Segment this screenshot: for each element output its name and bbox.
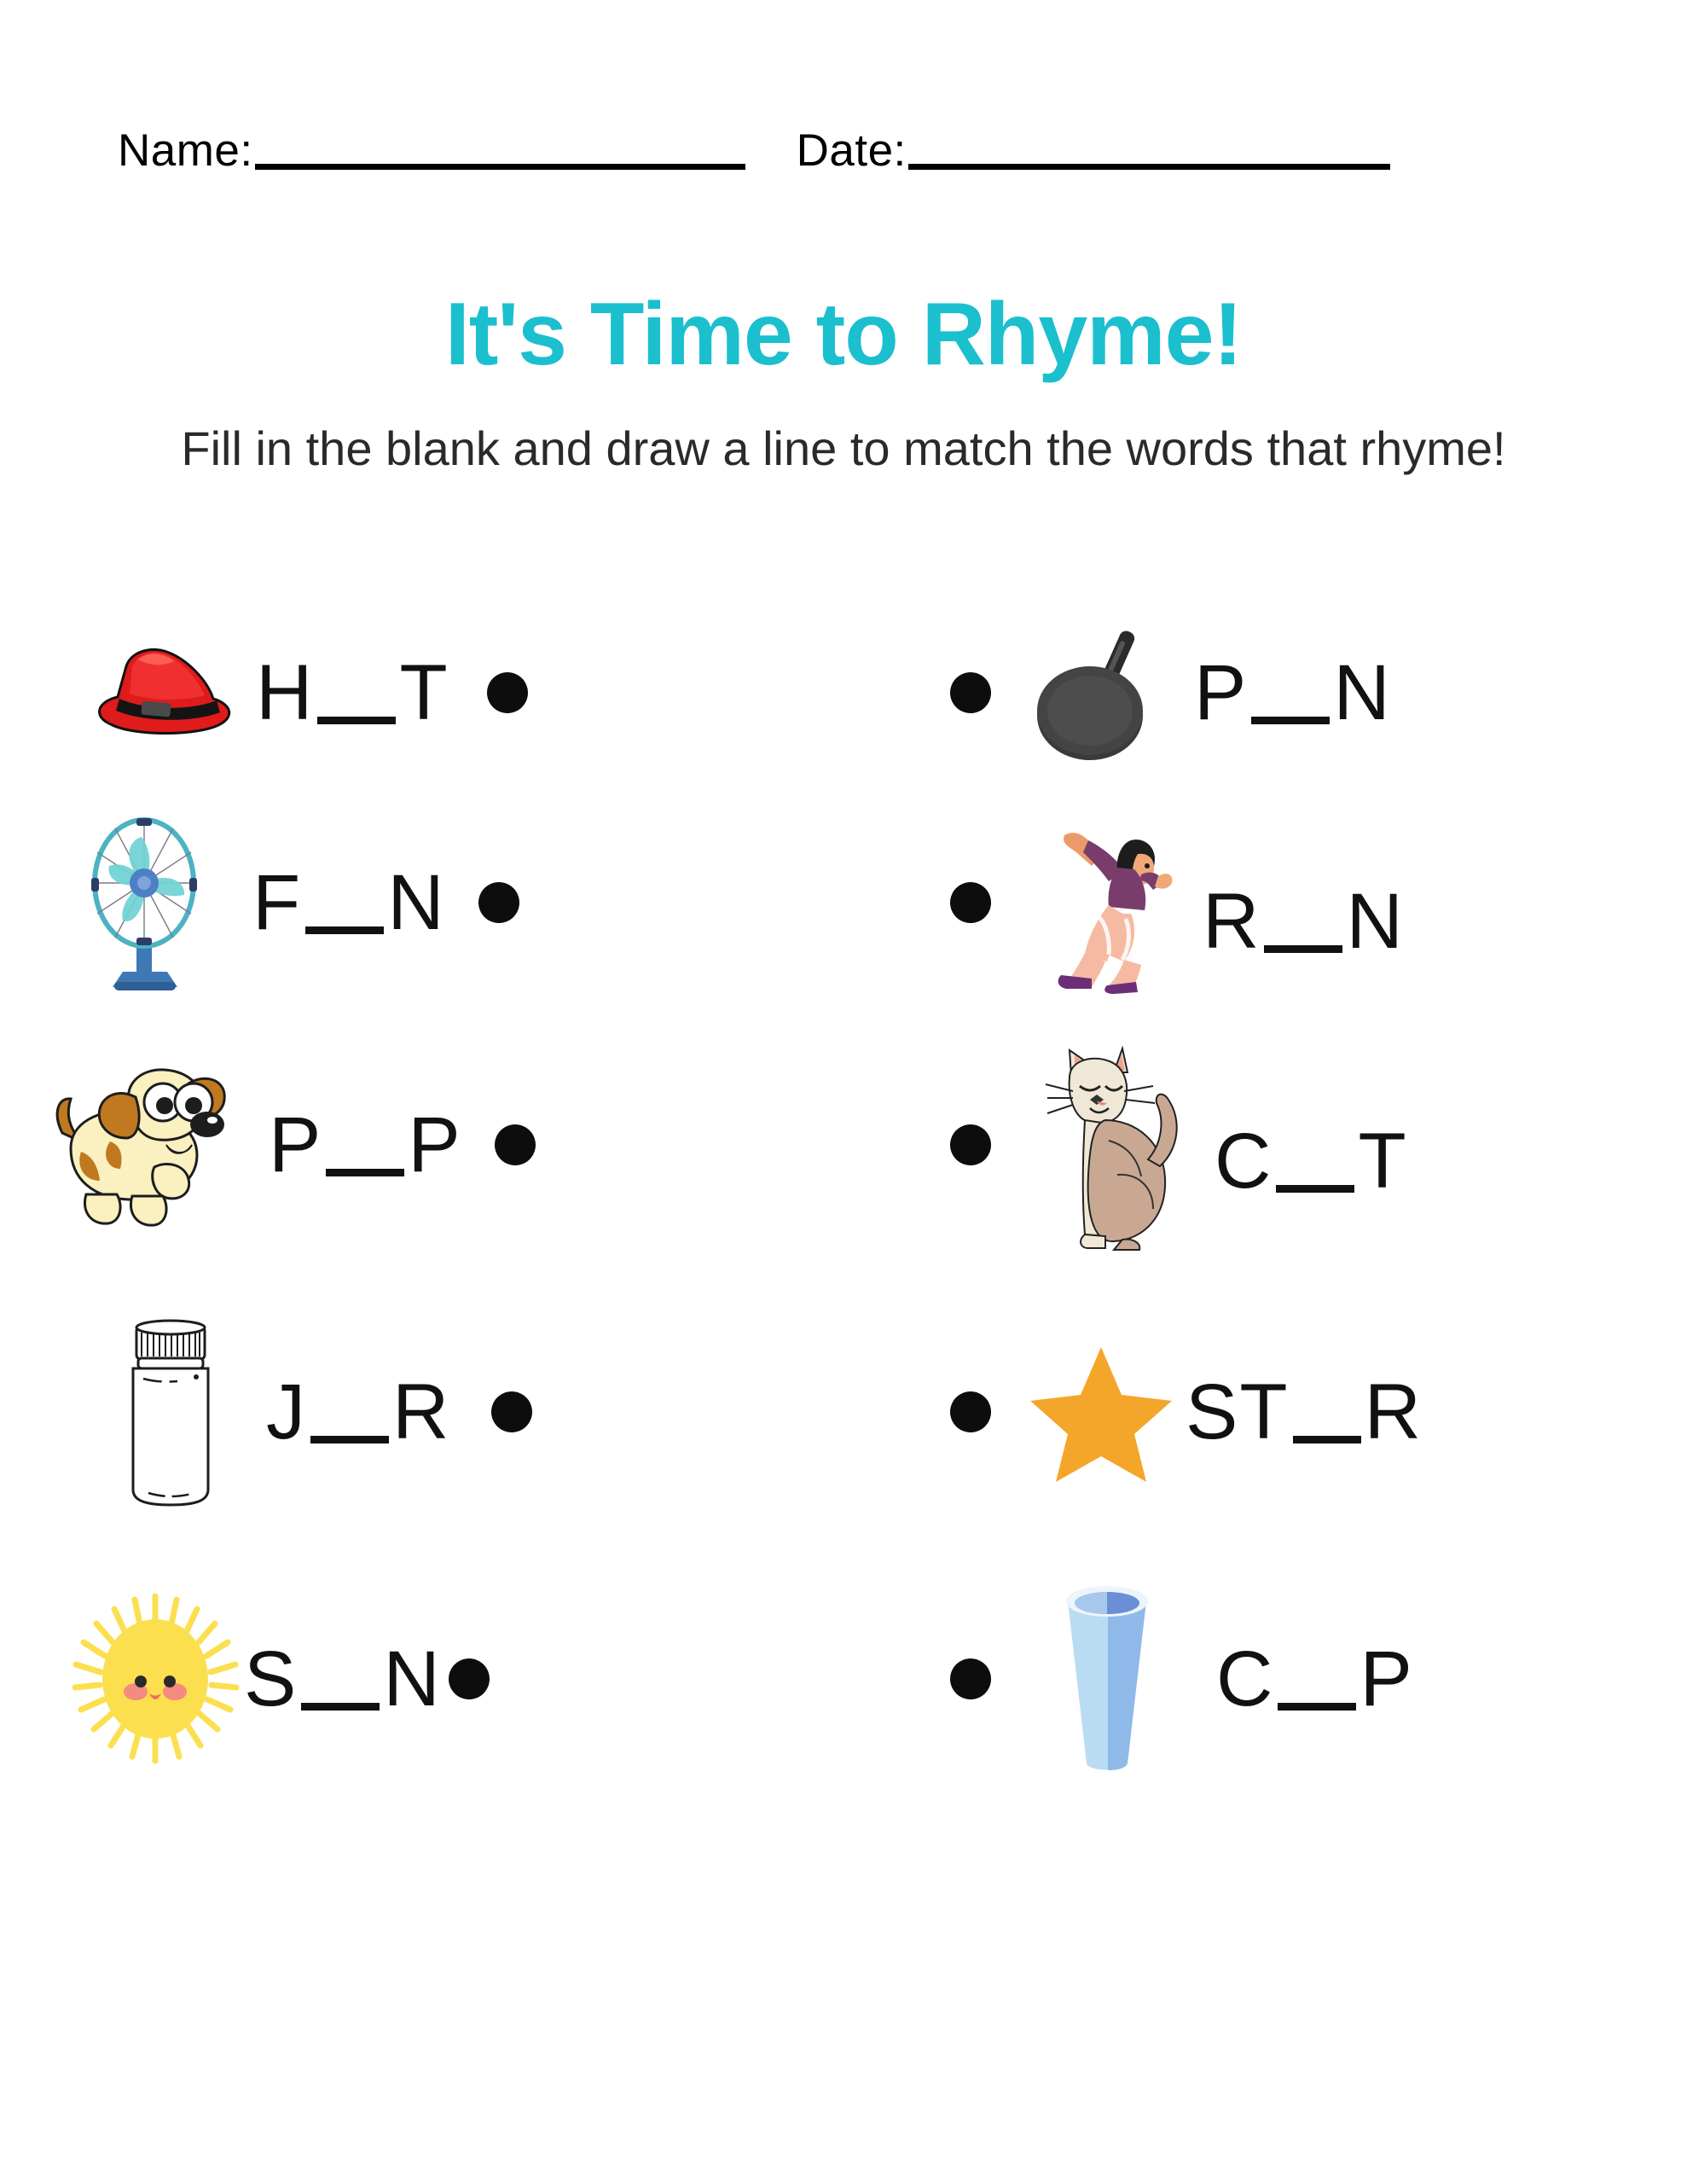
date-field-group: Date: xyxy=(797,128,1390,173)
word-suffix: T xyxy=(399,649,449,736)
word-prefix: P xyxy=(269,1101,322,1188)
word-blank[interactable] xyxy=(326,1169,404,1176)
table-row: SN CP xyxy=(0,1551,1687,1807)
word-prefix: ST xyxy=(1186,1368,1290,1455)
table-row: JR STR xyxy=(0,1273,1687,1551)
word-blank[interactable] xyxy=(301,1703,380,1711)
row-2-right-item: RN xyxy=(843,811,1687,995)
connector-dot-left-5[interactable] xyxy=(449,1658,490,1699)
row-3-right-item: CT xyxy=(843,1038,1687,1252)
word-blank[interactable] xyxy=(1264,945,1342,953)
connector-dot-left-3[interactable] xyxy=(495,1124,536,1165)
page-subtitle: Fill in the blank and draw a line to mat… xyxy=(0,420,1687,478)
word-left-3: PP xyxy=(269,1106,462,1184)
word-prefix: H xyxy=(256,649,314,736)
word-prefix: C xyxy=(1215,1118,1272,1205)
name-label: Name: xyxy=(118,128,253,173)
connector-dot-right-3[interactable] xyxy=(950,1124,991,1165)
connector-dot-right-2[interactable] xyxy=(950,882,991,923)
word-left-4: JR xyxy=(266,1373,450,1451)
word-left-5: SN xyxy=(244,1640,442,1718)
row-5-left-item: SN xyxy=(0,1588,843,1771)
hat-icon xyxy=(85,629,247,757)
cat-icon xyxy=(1032,1038,1203,1252)
word-suffix: T xyxy=(1358,1118,1407,1205)
table-row: HT PN xyxy=(0,597,1687,788)
word-suffix: N xyxy=(387,859,445,946)
puppy-icon xyxy=(47,1060,260,1230)
word-prefix: R xyxy=(1203,878,1261,965)
word-suffix: P xyxy=(408,1101,461,1188)
word-blank[interactable] xyxy=(305,926,384,934)
word-prefix: P xyxy=(1194,649,1248,736)
word-suffix: P xyxy=(1359,1635,1413,1722)
word-left-1: HT xyxy=(256,653,449,732)
rhyme-matching-board: HT PN xyxy=(0,597,1687,1807)
word-blank[interactable] xyxy=(1293,1436,1361,1443)
frying-pan-icon xyxy=(1029,620,1182,765)
word-suffix: N xyxy=(1346,878,1404,965)
table-row: PP xyxy=(0,1017,1687,1273)
row-2-left-item: FN xyxy=(0,811,843,995)
word-prefix: C xyxy=(1216,1635,1274,1722)
star-icon xyxy=(1029,1342,1174,1483)
word-right-2: RN xyxy=(1203,882,1405,961)
row-4-left-item: JR xyxy=(0,1314,843,1510)
word-blank[interactable] xyxy=(317,717,396,724)
word-prefix: F xyxy=(252,859,302,946)
date-input[interactable] xyxy=(908,164,1390,170)
word-prefix: J xyxy=(266,1368,307,1455)
connector-dot-left-1[interactable] xyxy=(487,672,528,713)
connector-dot-right-4[interactable] xyxy=(950,1391,991,1432)
table-row: FN xyxy=(0,788,1687,1017)
word-suffix: R xyxy=(392,1368,450,1455)
connector-dot-right-1[interactable] xyxy=(950,672,991,713)
row-4-right-item: STR xyxy=(843,1342,1687,1483)
word-right-5: CP xyxy=(1216,1640,1414,1718)
word-right-1: PN xyxy=(1194,653,1392,732)
sun-icon xyxy=(64,1588,247,1771)
word-suffix: N xyxy=(1333,649,1391,736)
word-left-2: FN xyxy=(252,863,446,942)
page-subtitle-text: Fill in the blank and draw a line to mat… xyxy=(144,420,1543,478)
fan-icon xyxy=(85,811,213,995)
date-label: Date: xyxy=(797,128,907,173)
page-title: It's Time to Rhyme! xyxy=(0,287,1687,382)
word-prefix: S xyxy=(244,1635,298,1722)
connector-dot-left-4[interactable] xyxy=(491,1391,532,1432)
word-right-4: STR xyxy=(1186,1373,1423,1451)
row-1-left-item: HT xyxy=(0,629,843,757)
word-suffix: R xyxy=(1365,1368,1423,1455)
running-person-icon xyxy=(1035,811,1189,995)
row-1-right-item: PN xyxy=(843,620,1687,765)
word-blank[interactable] xyxy=(1276,1185,1354,1193)
name-input[interactable] xyxy=(255,164,745,170)
connector-dot-right-5[interactable] xyxy=(950,1658,991,1699)
jar-icon xyxy=(111,1314,230,1510)
name-field-group: Name: xyxy=(118,128,745,173)
word-blank[interactable] xyxy=(1278,1703,1356,1711)
cup-icon xyxy=(1044,1581,1172,1777)
word-suffix: N xyxy=(383,1635,441,1722)
row-5-right-item: CP xyxy=(843,1581,1687,1777)
connector-dot-left-2[interactable] xyxy=(478,882,519,923)
word-right-3: CT xyxy=(1215,1122,1408,1200)
row-3-left-item: PP xyxy=(0,1060,843,1230)
name-date-header: Name: Date: xyxy=(118,128,1390,173)
word-blank[interactable] xyxy=(310,1436,389,1443)
word-blank[interactable] xyxy=(1251,717,1330,724)
